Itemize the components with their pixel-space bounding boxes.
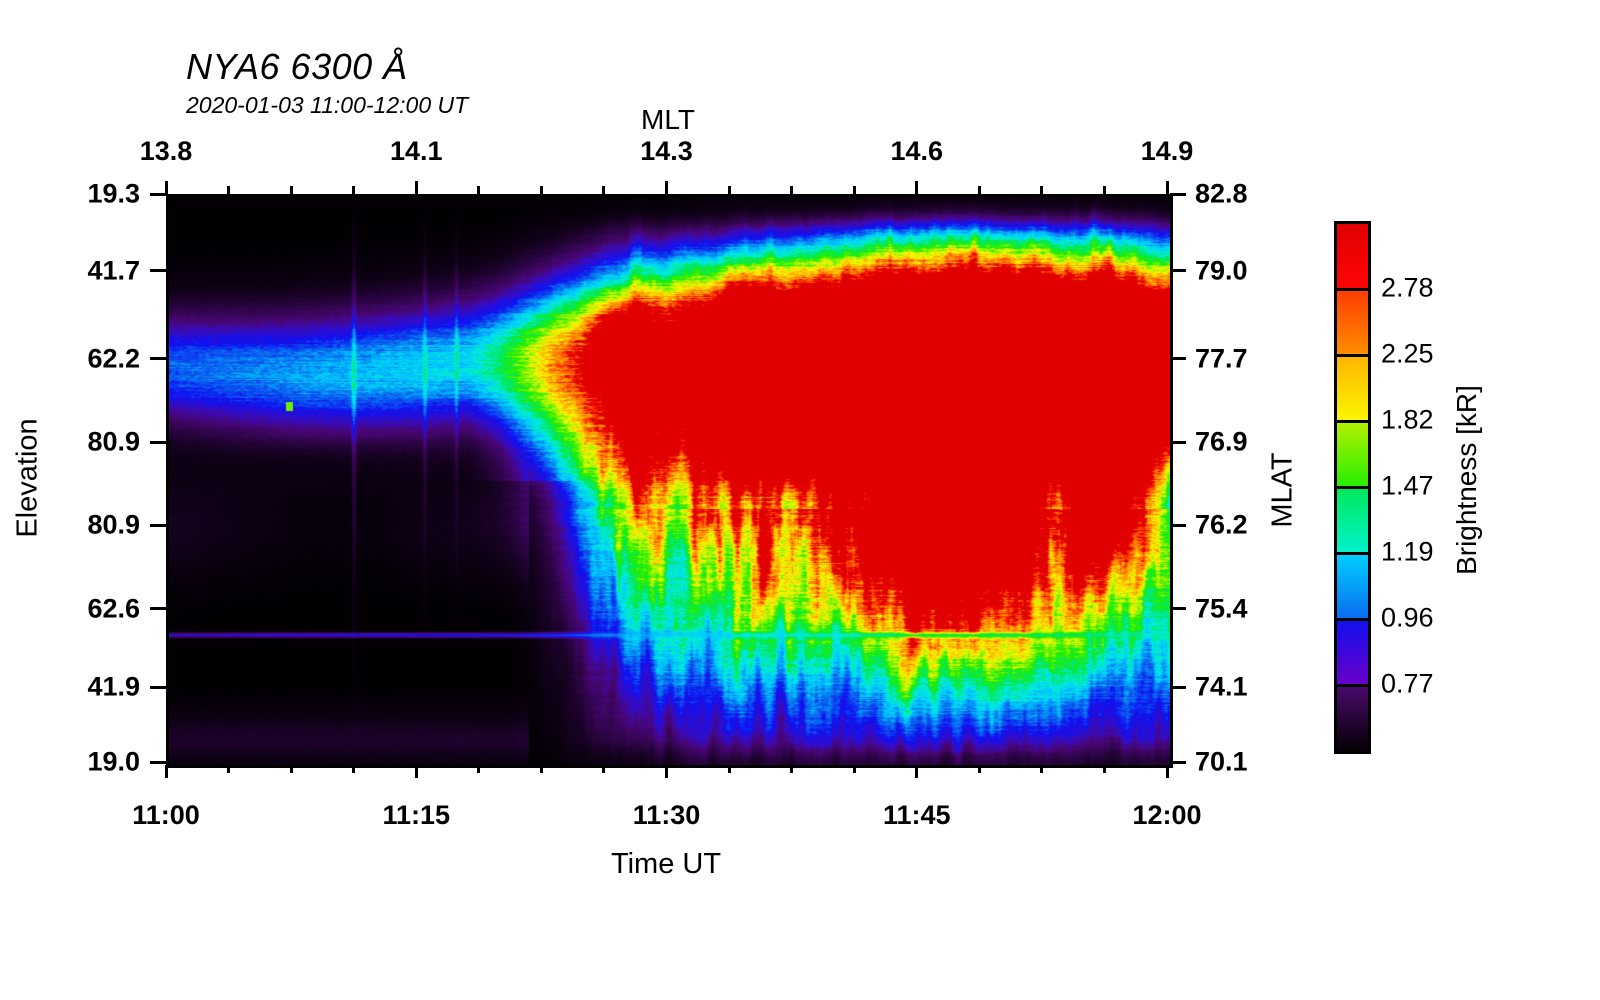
tick-top-minor	[540, 186, 543, 194]
tick-top-minor	[1103, 186, 1106, 194]
tick-bottom-minor	[1040, 765, 1043, 773]
top-tick-label: 14.6	[890, 136, 943, 167]
right-tick-label: 77.7	[1195, 343, 1248, 374]
colorbar-tick-label: 2.25	[1381, 339, 1434, 370]
bottom-axis-title: Time UT	[611, 848, 721, 881]
bottom-tick-label: 11:45	[883, 800, 951, 831]
colorbar-separator	[1334, 552, 1371, 555]
tick-top-minor	[602, 186, 605, 194]
bottom-tick-label: 11:00	[132, 800, 200, 831]
tick-bottom-minor	[227, 765, 230, 773]
tick-top-minor	[290, 186, 293, 194]
tick-bottom-minor	[853, 765, 856, 773]
top-tick-label: 13.8	[140, 136, 193, 167]
tick-left	[150, 607, 166, 610]
tick-top-minor	[790, 186, 793, 194]
tick-top-minor	[477, 186, 480, 194]
colorbar-separator	[1334, 684, 1371, 687]
keogram-plot-area	[166, 194, 1173, 768]
left-tick-label: 41.9	[87, 672, 140, 703]
tick-top-minor	[1040, 186, 1043, 194]
tick-bottom-minor	[790, 765, 793, 773]
tick-right	[1170, 269, 1186, 272]
colorbar-tick-label: 1.19	[1381, 536, 1434, 567]
tick-top-major	[915, 181, 918, 194]
top-tick-label: 14.9	[1141, 136, 1194, 167]
tick-right	[1170, 761, 1186, 764]
colorbar-band	[1337, 553, 1368, 619]
bottom-tick-label: 11:30	[633, 800, 701, 831]
tick-left	[150, 193, 166, 196]
colorbar-tick-label: 0.96	[1381, 602, 1434, 633]
tick-top-minor	[352, 186, 355, 194]
colorbar-tick-label: 2.78	[1381, 273, 1434, 304]
tick-top-major	[415, 181, 418, 194]
left-tick-label: 62.2	[87, 343, 140, 374]
tick-bottom-major	[665, 765, 668, 778]
tick-left	[150, 524, 166, 527]
tick-top-major	[1166, 181, 1169, 194]
colorbar-band	[1337, 290, 1368, 356]
right-tick-label: 82.8	[1195, 179, 1248, 210]
right-tick-label: 76.9	[1195, 427, 1248, 458]
colorbar-separator	[1334, 420, 1371, 423]
right-tick-label: 74.1	[1195, 672, 1248, 703]
keogram-heatmap	[169, 197, 1170, 765]
tick-right	[1170, 441, 1186, 444]
tick-bottom-minor	[978, 765, 981, 773]
colorbar-tick-label: 0.77	[1381, 668, 1434, 699]
tick-top-minor	[978, 186, 981, 194]
top-axis-title: MLT	[641, 104, 695, 136]
colorbar-tick-label: 1.47	[1381, 471, 1434, 502]
tick-bottom-minor	[352, 765, 355, 773]
colorbar-band	[1337, 422, 1368, 488]
top-tick-label: 14.1	[390, 136, 443, 167]
tick-bottom-minor	[290, 765, 293, 773]
tick-right	[1170, 686, 1186, 689]
tick-right	[1170, 524, 1186, 527]
colorbar-separator	[1334, 288, 1371, 291]
bottom-tick-label: 12:00	[1132, 800, 1201, 831]
right-axis-title: MLAT	[1267, 452, 1300, 527]
colorbar-band	[1337, 224, 1368, 290]
plot-subtitle: 2020-01-03 11:00-12:00 UT	[186, 92, 468, 119]
colorbar-title: Brightness [kR]	[1451, 385, 1483, 575]
colorbar-band	[1337, 488, 1368, 554]
tick-top-major	[665, 181, 668, 194]
tick-left	[150, 761, 166, 764]
tick-bottom-major	[1166, 765, 1169, 778]
right-tick-label: 70.1	[1195, 747, 1248, 778]
left-tick-label: 19.3	[87, 179, 140, 210]
plot-title: NYA6 6300 Å	[186, 46, 408, 88]
bottom-tick-label: 11:15	[382, 800, 450, 831]
colorbar-separator	[1334, 486, 1371, 489]
left-tick-label: 80.9	[87, 427, 140, 458]
left-tick-label: 19.0	[87, 747, 140, 778]
right-tick-label: 76.2	[1195, 510, 1248, 541]
colorbar-band	[1337, 619, 1368, 685]
colorbar-separator	[1334, 618, 1371, 621]
tick-left	[150, 357, 166, 360]
colorbar-tick-label: 1.82	[1381, 405, 1434, 436]
colorbar-separator	[1334, 354, 1371, 357]
tick-bottom-minor	[1103, 765, 1106, 773]
left-axis-title: Elevation	[12, 418, 45, 537]
right-tick-label: 79.0	[1195, 255, 1248, 286]
right-tick-label: 75.4	[1195, 593, 1248, 624]
colorbar-band	[1337, 685, 1368, 751]
left-tick-label: 41.7	[87, 255, 140, 286]
left-tick-label: 80.9	[87, 510, 140, 541]
tick-top-minor	[728, 186, 731, 194]
tick-bottom-major	[415, 765, 418, 778]
top-tick-label: 14.3	[640, 136, 693, 167]
tick-left	[150, 441, 166, 444]
tick-right	[1170, 357, 1186, 360]
tick-bottom-major	[165, 765, 168, 778]
tick-top-minor	[227, 186, 230, 194]
tick-left	[150, 269, 166, 272]
tick-bottom-major	[915, 765, 918, 778]
tick-left	[150, 686, 166, 689]
tick-bottom-minor	[602, 765, 605, 773]
tick-bottom-minor	[540, 765, 543, 773]
tick-bottom-minor	[728, 765, 731, 773]
left-tick-label: 62.6	[87, 593, 140, 624]
tick-right	[1170, 193, 1186, 196]
tick-right	[1170, 607, 1186, 610]
tick-bottom-minor	[477, 765, 480, 773]
colorbar-band	[1337, 356, 1368, 422]
tick-top-minor	[853, 186, 856, 194]
